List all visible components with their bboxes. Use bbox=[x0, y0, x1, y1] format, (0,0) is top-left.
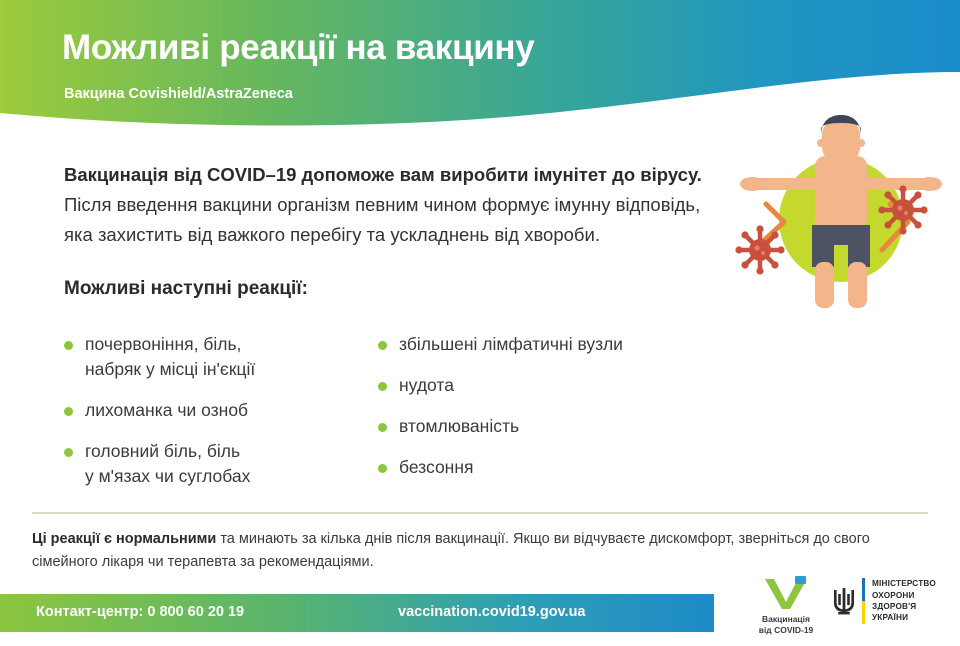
ministry-of-health-logo: МІНІСТЕРСТВО ОХОРОНИ ЗДОРОВ'Я УКРАЇНИ bbox=[832, 578, 936, 624]
flag-divider bbox=[862, 578, 865, 624]
list-item: безсоння bbox=[378, 455, 708, 480]
section-divider bbox=[32, 512, 928, 514]
list-item: втомлюваність bbox=[378, 414, 708, 439]
reactions-column-left: почервоніння, біль, набряк у місці ін'єк… bbox=[64, 332, 374, 505]
bullet-dot-icon bbox=[378, 423, 387, 432]
bullet-dot-icon bbox=[378, 341, 387, 350]
list-item-label: лихоманка чи озноб bbox=[85, 398, 248, 423]
vaccination-logo-caption: Вакцинація від COVID-19 bbox=[748, 614, 824, 635]
trident-icon bbox=[832, 586, 856, 616]
bullet-dot-icon bbox=[378, 464, 387, 473]
list-item-label: збільшені лімфатичні вузли bbox=[399, 332, 623, 357]
bullet-dot-icon bbox=[64, 341, 73, 350]
intro-bold-lead: Вакцинація від COVID–19 допоможе вам вир… bbox=[64, 164, 702, 185]
vaccination-v-icon bbox=[760, 576, 812, 612]
list-item-label: втомлюваність bbox=[399, 414, 519, 439]
vaccination-illustration bbox=[722, 112, 960, 317]
vaccination-logo: Вакцинація від COVID-19 bbox=[748, 576, 824, 635]
bullet-dot-icon bbox=[378, 382, 387, 391]
list-item: лихоманка чи озноб bbox=[64, 398, 374, 423]
list-item: почервоніння, біль, набряк у місці ін'єк… bbox=[64, 332, 374, 382]
reactions-heading: Можливі наступні реакції: bbox=[64, 278, 308, 300]
footnote-paragraph: Ці реакції є нормальними та минають за к… bbox=[32, 528, 932, 574]
list-item-label: почервоніння, біль, набряк у місці ін'єк… bbox=[85, 332, 255, 382]
bullet-dot-icon bbox=[64, 448, 73, 457]
list-item: збільшені лімфатичні вузли bbox=[378, 332, 708, 357]
ministry-logo-text: МІНІСТЕРСТВО ОХОРОНИ ЗДОРОВ'Я УКРАЇНИ bbox=[872, 578, 936, 624]
list-item-label: головний біль, біль у м'язах чи суглобах bbox=[85, 439, 250, 489]
website-link[interactable]: vaccination.covid19.gov.ua bbox=[398, 604, 586, 620]
page-title: Можливі реакції на вакцину bbox=[62, 28, 534, 68]
contact-center-phone: Контакт-центр: 0 800 60 20 19 bbox=[36, 604, 244, 620]
intro-paragraph: Вакцинація від COVID–19 допоможе вам вир… bbox=[64, 160, 724, 250]
list-item: нудота bbox=[378, 373, 708, 398]
list-item-label: нудота bbox=[399, 373, 454, 398]
reactions-column-right: збільшені лімфатичні вузли нудота втомлю… bbox=[378, 332, 708, 496]
intro-rest: Після введення вакцини організм певним ч… bbox=[64, 194, 700, 245]
page-subtitle: Вакцина Covishield/AstraZeneca bbox=[64, 86, 293, 102]
list-item-label: безсоння bbox=[399, 455, 474, 480]
list-item: головний біль, біль у м'язах чи суглобах bbox=[64, 439, 374, 489]
bullet-dot-icon bbox=[64, 407, 73, 416]
virus-icon-right bbox=[878, 185, 927, 234]
virus-icon-left bbox=[735, 225, 784, 274]
footnote-bold-lead: Ці реакції є нормальними bbox=[32, 531, 216, 547]
